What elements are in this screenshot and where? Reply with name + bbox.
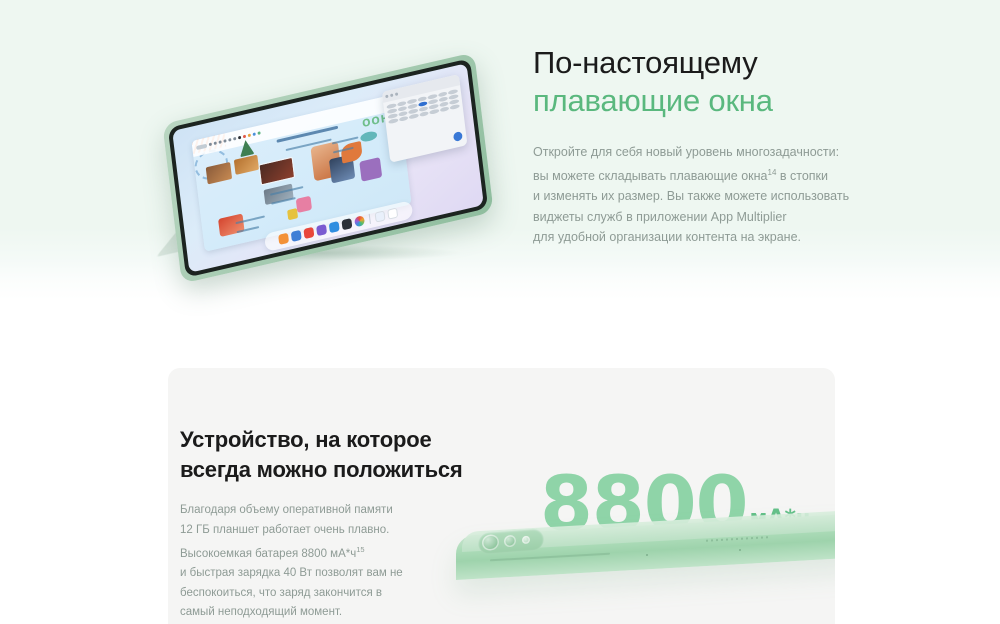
sticker-teal bbox=[360, 130, 378, 143]
dock-icon-recent-docs[interactable] bbox=[375, 210, 386, 222]
sticker-photo-3 bbox=[258, 156, 296, 185]
sticker-photo-2 bbox=[234, 155, 259, 176]
camera-lens-secondary-icon bbox=[504, 535, 516, 548]
dock-icon-appgallery[interactable] bbox=[354, 215, 365, 227]
sticker-orange-blob bbox=[340, 141, 363, 163]
calendar-cell bbox=[399, 115, 409, 121]
lasso-tool-icon bbox=[228, 138, 231, 142]
notes-title-chip bbox=[196, 144, 207, 150]
calendar-cell bbox=[450, 104, 460, 110]
camera-flash-icon bbox=[522, 536, 530, 545]
hero-body-line-2a: вы можете складывать плавающие окна bbox=[533, 169, 768, 183]
window-minimize-icon bbox=[390, 93, 393, 97]
card-body-text: Благодаря объему оперативной памяти 12 Г… bbox=[180, 501, 480, 623]
card-title-line-1: Устройство, на которое bbox=[180, 427, 432, 452]
dock-icon-mail[interactable] bbox=[329, 221, 340, 233]
card-body-line-5: беспокоиться, что заряд закончится в bbox=[180, 587, 382, 599]
card-body-line-3: Высокоемкая батарея 8800 мА*ч bbox=[180, 548, 356, 560]
calendar-cell bbox=[419, 111, 429, 117]
hero-body-line-2b: в стопки bbox=[776, 169, 828, 183]
dock-icon-gallery[interactable] bbox=[278, 233, 289, 245]
hero-title-line-1: По-настоящему bbox=[533, 45, 758, 80]
calendar-cell bbox=[430, 108, 440, 114]
dock-icon-camera[interactable] bbox=[341, 218, 352, 230]
dock-icon-files[interactable] bbox=[316, 224, 327, 236]
hero-body-line-5: для удобной организации контента на экра… bbox=[533, 230, 801, 244]
dock-icon-recent-calendar[interactable] bbox=[387, 207, 398, 219]
hero-title: По-настоящему плавающие окна bbox=[533, 44, 933, 120]
calendar-cell bbox=[409, 113, 419, 119]
color-black-icon bbox=[238, 136, 241, 140]
shape-tool-icon bbox=[223, 140, 226, 144]
dock-icon-browser[interactable] bbox=[291, 230, 302, 242]
sticker-red bbox=[218, 213, 245, 236]
card-body-line-6: самый неподходящий момент. bbox=[180, 606, 342, 618]
tablet-screen: OOH bbox=[172, 63, 484, 273]
color-green-icon bbox=[258, 132, 261, 136]
card-tablet-image bbox=[456, 518, 835, 624]
hero-body-line-3: и изменять их размер. Вы также можете ис… bbox=[533, 189, 849, 203]
calendar-add-event-button[interactable] bbox=[453, 131, 463, 142]
camera-lens-main-icon bbox=[482, 534, 499, 551]
window-maximize-icon bbox=[395, 92, 398, 96]
calendar-cell bbox=[440, 106, 450, 112]
hero-body-line-4: виджеты служб в приложении App Multiplie… bbox=[533, 210, 787, 224]
hero-title-line-2: плавающие окна bbox=[533, 83, 773, 118]
floating-calendar-window bbox=[382, 74, 467, 163]
pen-tool-icon bbox=[209, 143, 212, 147]
dock-divider bbox=[369, 214, 371, 224]
text-tool-icon bbox=[233, 137, 236, 141]
hero-body-text: Откройте для себя новый уровень многозад… bbox=[533, 142, 933, 248]
calendar-cell bbox=[389, 118, 399, 124]
color-blue-icon bbox=[253, 133, 256, 137]
hero-copy: По-настоящему плавающие окна Откройте дл… bbox=[533, 44, 933, 248]
window-close-icon bbox=[386, 94, 389, 98]
card-title: Устройство, на которое всегда можно поло… bbox=[180, 425, 480, 485]
card-body-line-2: 12 ГБ планшет работает очень плавно. bbox=[180, 524, 389, 536]
card-title-line-2: всегда можно положиться bbox=[180, 457, 463, 482]
sticker-yellow bbox=[287, 208, 299, 220]
battery-feature-card: Устройство, на которое всегда можно поло… bbox=[168, 368, 835, 624]
color-orange-icon bbox=[248, 134, 251, 138]
card-body-line-1: Благодаря объему оперативной памяти bbox=[180, 504, 393, 516]
hero-tablet-image: OOH bbox=[150, 78, 510, 263]
color-red-icon bbox=[243, 135, 246, 139]
marketing-page: OOH bbox=[0, 0, 1000, 624]
hero-body-line-1: Откройте для себя новый уровень многозад… bbox=[533, 145, 839, 159]
card-copy: Устройство, на которое всегда можно поло… bbox=[180, 425, 480, 623]
dock-icon-notes[interactable] bbox=[303, 227, 314, 239]
sticker-purple bbox=[359, 157, 382, 182]
card-body-line-4: и быстрая зарядка 40 Вт позволят вам не bbox=[180, 567, 403, 579]
highlighter-tool-icon bbox=[214, 142, 217, 146]
footnote-marker-15: 15 bbox=[356, 545, 364, 554]
eraser-tool-icon bbox=[219, 141, 222, 145]
sticker-pink bbox=[296, 196, 312, 214]
